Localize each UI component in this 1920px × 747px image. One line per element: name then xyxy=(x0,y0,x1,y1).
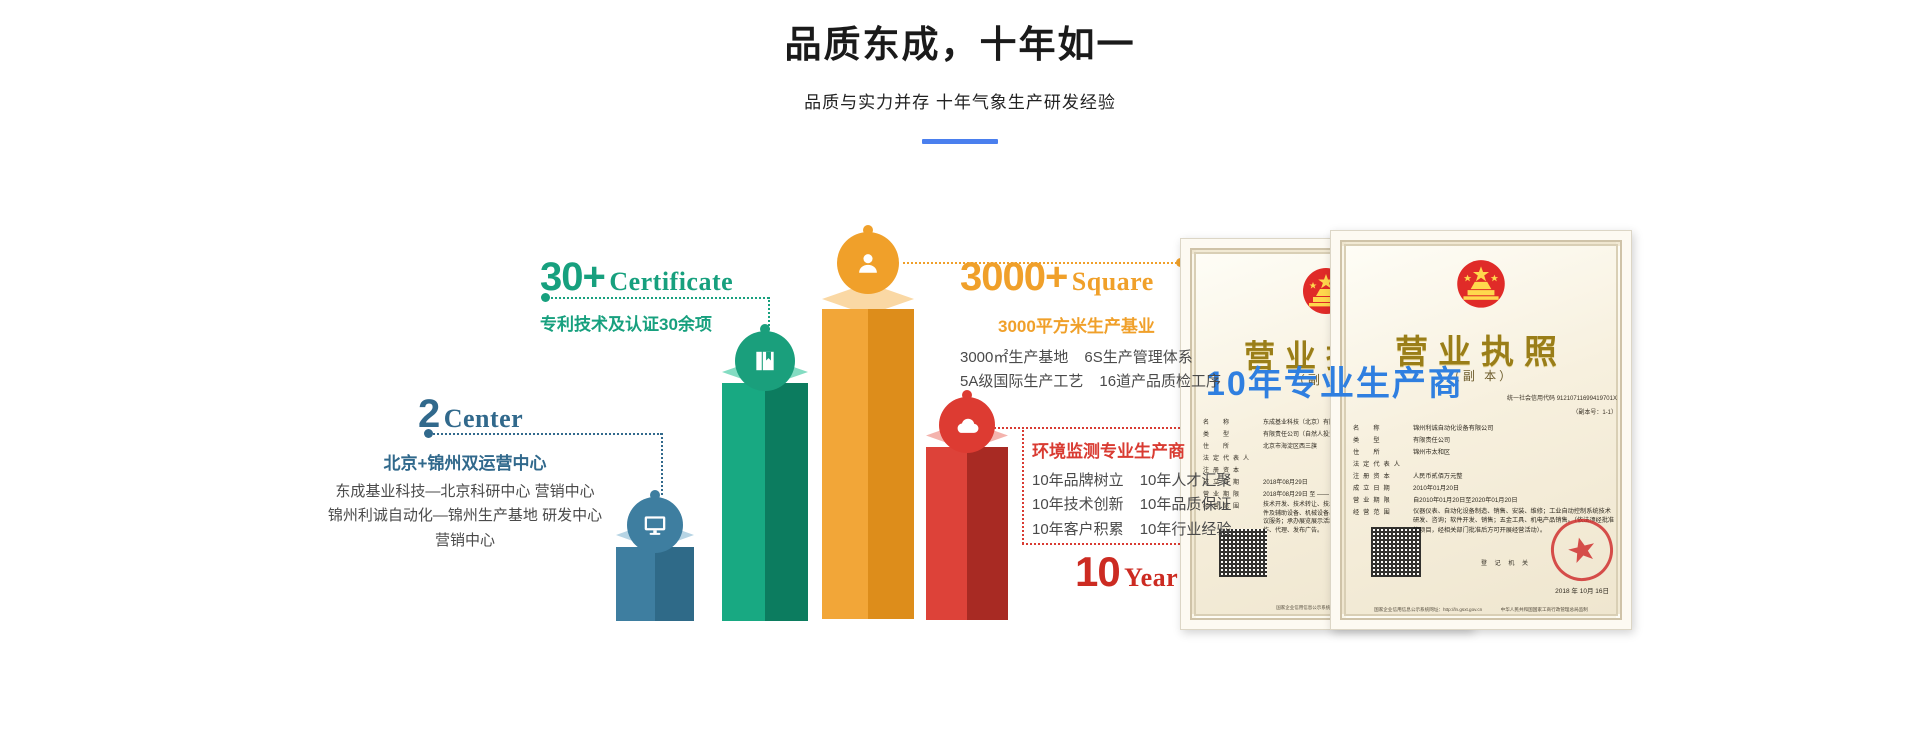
stat-year-number-row: 10 Year xyxy=(1075,548,1178,596)
row-value: 人民币贰佰万元整 xyxy=(1413,471,1617,480)
row-value: 自2010年01月20日至2020年01月20日 xyxy=(1413,495,1617,504)
book-icon xyxy=(752,348,778,374)
certificate-row: 成立日期 2010年01月20日 xyxy=(1353,483,1617,492)
certificate-front[interactable]: 营业执照 （副 本） 统一社会信用代码 91210711699419701X （… xyxy=(1330,230,1632,630)
stat-center-headline: 北京+锦州双运营中心 xyxy=(300,449,630,474)
certificate-code-value: 91210711699419701X xyxy=(1557,396,1617,402)
row-value xyxy=(1413,459,1617,468)
infographic-stage: 2 Center 北京+锦州双运营中心 东成基业科技—北京科研中心 营销中心 锦… xyxy=(0,0,1920,747)
stat-square: 3000+ Square 3000平方米生产基业 3000㎡生产基地6S生产管理… xyxy=(960,255,1221,395)
row-key: 名 称 xyxy=(1203,417,1263,426)
certificate-footer: 国家企业信用信息公示系统网址：http://ln.gsxt.gov.cn 中华人… xyxy=(1349,607,1613,613)
row-key: 营业期限 xyxy=(1353,495,1413,504)
qr-code xyxy=(1371,527,1421,577)
cloud-icon xyxy=(954,412,981,439)
bar-front-face xyxy=(926,447,967,620)
certificate-row: 法定代表人 xyxy=(1353,459,1617,468)
badge-pin xyxy=(863,225,873,235)
stat-square-word: Square xyxy=(1072,267,1154,296)
bar-side-face xyxy=(967,447,1008,620)
row-key: 成立日期 xyxy=(1353,483,1413,492)
connector-line xyxy=(1022,427,1024,544)
certificates-overlay-text: 10年专业生产商 xyxy=(1206,356,1464,405)
bar-side-face xyxy=(655,547,694,621)
badge-pin xyxy=(650,490,660,500)
stat-certificate-number: 30+ xyxy=(540,255,605,299)
certificate-code: 统一社会信用代码 91210711699419701X xyxy=(1507,393,1617,402)
national-emblem-icon xyxy=(1450,257,1512,322)
certificate-row: 注册资本 人民币贰佰万元整 xyxy=(1353,471,1617,480)
stat-cell: 6S生产管理体系 xyxy=(1084,346,1192,370)
stat-line: 锦州利诚自动化—锦州生产基地 研发中心 xyxy=(300,504,630,528)
certificate-code-label: 统一社会信用代码 xyxy=(1507,396,1555,402)
stat-year: 环境监测专业生产商 10年品牌树立10年人才汇聚 10年技术创新10年品质保证 … xyxy=(1032,434,1231,542)
connector-line xyxy=(661,433,663,495)
certificate-copy-no: （副本号：1-1） xyxy=(1572,407,1617,416)
stat-center-word: Center xyxy=(444,404,524,433)
stat-cell: 10年客户积累 xyxy=(1032,521,1124,538)
stat-cell: 10年品质保证 xyxy=(1140,493,1232,517)
stat-square-number-row: 3000+ Square xyxy=(960,255,1221,300)
bar-front-face xyxy=(616,547,655,621)
bar-certificate xyxy=(722,357,808,621)
stat-year-number: 10 xyxy=(1075,548,1120,595)
stat-cell: 10年品牌树立 xyxy=(1032,472,1124,489)
stat-center: 2 Center 北京+锦州双运营中心 东成基业科技—北京科研中心 营销中心 锦… xyxy=(300,392,630,553)
stat-square-number: 3000+ xyxy=(960,255,1067,299)
certificate-row: 名 称 锦州利诚自动化设备有限公司 xyxy=(1353,423,1617,432)
stat-line: 10年品牌树立10年人才汇聚 xyxy=(1032,469,1231,493)
row-value: 锦州市太和区 xyxy=(1413,447,1617,456)
bar-front-face xyxy=(822,309,868,619)
stat-center-number: 2 xyxy=(418,392,439,436)
bar-side-face xyxy=(868,309,914,619)
row-key: 住 所 xyxy=(1353,447,1413,456)
person-icon xyxy=(855,250,881,276)
certificate-row: 类 型 有限责任公司 xyxy=(1353,435,1617,444)
stat-center-number-row: 2 Center xyxy=(300,392,630,437)
stat-line: 10年技术创新10年品质保证 xyxy=(1032,493,1231,517)
stat-line: 10年客户积累10年行业经验 xyxy=(1032,518,1231,542)
stat-square-headline: 3000平方米生产基业 xyxy=(998,312,1221,337)
registration-authority: 登 记 机 关 xyxy=(1481,558,1531,567)
row-key: 类 型 xyxy=(1353,435,1413,444)
stat-line: 5A级国际生产工艺16道产品质检工序 xyxy=(960,370,1221,394)
star-icon xyxy=(1561,529,1602,570)
stat-center-lines: 东成基业科技—北京科研中心 营销中心 锦州利诚自动化—锦州生产基地 研发中心 营… xyxy=(300,480,630,553)
stat-cell: 3000㎡生产基地 xyxy=(960,349,1068,366)
badge-pin xyxy=(962,390,972,400)
stat-year-lines: 10年品牌树立10年人才汇聚 10年技术创新10年品质保证 10年客户积累10年… xyxy=(1032,469,1231,542)
row-key: 注册资本 xyxy=(1353,471,1413,480)
badge-monitor[interactable] xyxy=(627,497,683,553)
stat-square-lines: 3000㎡生产基地6S生产管理体系 5A级国际生产工艺16道产品质检工序 xyxy=(960,346,1221,395)
bar-front-face xyxy=(722,383,765,621)
stat-line: 营销中心 xyxy=(300,529,630,553)
certificate-date: 2018 年 10月 16日 xyxy=(1555,585,1609,595)
row-value: 有限责任公司 xyxy=(1413,435,1617,444)
stat-cell: 10年行业经验 xyxy=(1140,518,1232,542)
row-key: 名 称 xyxy=(1353,423,1413,432)
stat-cell: 16道产品质检工序 xyxy=(1099,370,1221,394)
stat-certificate-headline: 专利技术及认证30余项 xyxy=(540,310,733,335)
stat-year-word: Year xyxy=(1124,563,1178,592)
stat-cell: 5A级国际生产工艺 xyxy=(960,373,1083,390)
stat-line: 东成基业科技—北京科研中心 营销中心 xyxy=(300,480,630,504)
badge-pin xyxy=(760,324,770,334)
bar-side-face xyxy=(765,383,808,621)
stat-certificate: 30+ Certificate 专利技术及认证30余项 xyxy=(540,255,733,335)
row-key: 法定代表人 xyxy=(1353,459,1413,468)
row-value: 锦州利诚自动化设备有限公司 xyxy=(1413,423,1617,432)
bar-square xyxy=(822,283,914,621)
row-value: 2010年01月20日 xyxy=(1413,483,1617,492)
certificates-group: 营业执照 （副 本） 统一社会信用代码 名 称 东成基业科技（北京）有限公司 类… xyxy=(1180,230,1700,650)
badge-book[interactable] xyxy=(735,331,795,391)
badge-cloud[interactable] xyxy=(939,397,995,453)
stat-certificate-number-row: 30+ Certificate xyxy=(540,255,733,300)
stat-line: 3000㎡生产基地6S生产管理体系 xyxy=(960,346,1221,370)
stat-certificate-word: Certificate xyxy=(609,267,733,296)
certificate-row: 住 所 锦州市太和区 xyxy=(1353,447,1617,456)
stat-year-headline: 环境监测专业生产商 xyxy=(1032,437,1231,462)
stat-cell: 10年技术创新 xyxy=(1032,496,1124,513)
certificate-row: 营业期限 自2010年01月20日至2020年01月20日 xyxy=(1353,495,1617,504)
monitor-icon xyxy=(642,512,668,538)
stat-cell: 10年人才汇聚 xyxy=(1140,469,1232,493)
badge-person[interactable] xyxy=(837,232,899,294)
